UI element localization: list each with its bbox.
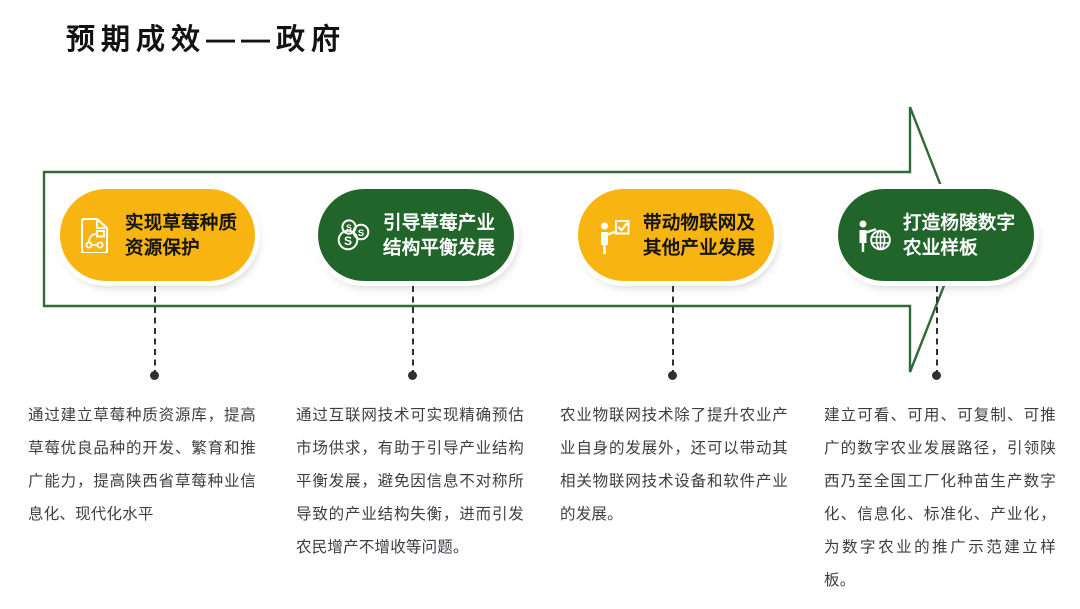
step-pill-2[interactable]: S S S 引导草莓产业 结构平衡发展 xyxy=(318,189,514,281)
title-block: 预期成效——政府 xyxy=(66,18,766,68)
step-pill-3[interactable]: 带动物联网及 其他产业发展 xyxy=(578,189,774,281)
connector-dot-3 xyxy=(668,371,677,380)
person-globe-icon xyxy=(854,213,894,257)
step-description-3: 农业物联网技术除了提升农业产业自身的发展外，还可以带动其相关物联网技术设备和软件… xyxy=(560,399,788,531)
connector-dot-2 xyxy=(408,371,417,380)
connector-line-2 xyxy=(412,286,416,376)
svg-text:S: S xyxy=(358,228,364,239)
page-title: 预期成效——政府 xyxy=(66,18,766,62)
document-network-icon xyxy=(76,213,116,257)
connector-line-1 xyxy=(154,286,158,376)
connector-dot-4 xyxy=(932,371,941,380)
step-pill-1-label: 实现草莓种质 资源保护 xyxy=(125,210,237,260)
step-pill-2-label: 引导草莓产业 结构平衡发展 xyxy=(383,210,495,260)
step-pill-1[interactable]: 实现草莓种质 资源保护 xyxy=(60,189,255,281)
step-description-2: 通过互联网技术可实现精确预估市场供求，有助于引导产业结构平衡发展，避免因信息不对… xyxy=(296,399,524,564)
connector-dot-1 xyxy=(150,371,159,380)
step-pill-4-label: 打造杨陵数字 农业样板 xyxy=(903,210,1015,260)
connector-line-4 xyxy=(936,286,940,376)
step-pill-3-label: 带动物联网及 其他产业发展 xyxy=(643,210,755,260)
person-checklist-icon xyxy=(594,213,634,257)
step-description-1: 通过建立草莓种质资源库，提高草莓优良品种的开发、繁育和推广能力，提高陕西省草莓种… xyxy=(28,399,256,531)
coins-money-icon: S S S xyxy=(334,213,374,257)
step-pill-4[interactable]: 打造杨陵数字 农业样板 xyxy=(838,189,1034,281)
svg-text:S: S xyxy=(344,234,352,248)
step-description-4: 建立可看、可用、可复制、可推广的数字农业发展路径，引领陕西乃至全国工厂化种苗生产… xyxy=(824,399,1056,597)
connector-line-3 xyxy=(672,286,676,376)
